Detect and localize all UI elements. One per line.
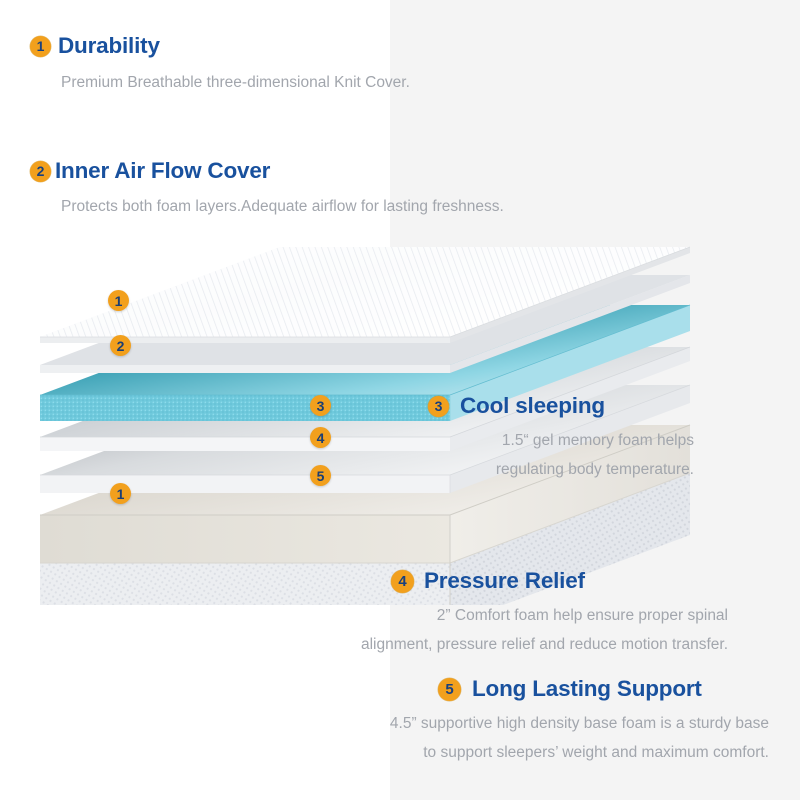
feature-2-title: Inner Air Flow Cover [55,158,270,184]
feature-4-title: Pressure Relief [424,568,585,594]
feature-2-heading: 2 Inner Air Flow Cover [30,158,504,184]
feature-3-number-badge: 3 [428,396,449,417]
feature-5-description-line-1: 4.5” supportive high density base foam i… [221,711,769,737]
feature-2-description: Protects both foam layers.Adequate airfl… [61,194,504,220]
diagram-callout-3: 3 [310,395,331,416]
feature-5-title: Long Lasting Support [472,676,702,702]
feature-4-description-line-1: 2” Comfort foam help ensure proper spina… [343,603,728,629]
diagram-callout-1-base: 1 [110,483,131,504]
feature-5-heading: 5 Long Lasting Support [438,676,769,702]
feature-long-lasting-support: 5 Long Lasting Support 4.5” supportive h… [438,676,769,766]
feature-3-description-line-2: regulating body temperature. [428,457,694,483]
diagram-callout-2: 2 [110,335,131,356]
feature-3-heading: 3 Cool sleeping [428,393,694,419]
feature-pressure-relief: 4 Pressure Relief 2” Comfort foam help e… [391,568,728,658]
diagram-callout-1-top: 1 [108,290,129,311]
feature-inner-air-flow-cover: 2 Inner Air Flow Cover Protects both foa… [30,158,504,220]
feature-4-number-badge: 4 [391,570,414,593]
feature-1-number-badge: 1 [30,36,51,57]
feature-3-description-line-1: 1.5“ gel memory foam helps [428,428,694,454]
feature-5-description-line-2: to support sleepers’ weight and maximum … [221,740,769,766]
feature-3-title: Cool sleeping [460,393,605,419]
feature-4-description-line-2: alignment, pressure relief and reduce mo… [233,632,728,658]
feature-4-heading: 4 Pressure Relief [391,568,728,594]
feature-5-number-badge: 5 [438,678,461,701]
feature-1-title: Durability [58,33,160,59]
diagram-callout-5: 5 [310,465,331,486]
diagram-callout-4: 4 [310,427,331,448]
feature-1-heading: 1 Durability [30,33,410,59]
feature-durability: 1 Durability Premium Breathable three-di… [30,33,410,96]
feature-1-description: Premium Breathable three-dimensional Kni… [61,70,410,96]
feature-2-number-badge: 2 [30,161,51,182]
feature-cool-sleeping: 3 Cool sleeping 1.5“ gel memory foam hel… [428,393,694,483]
